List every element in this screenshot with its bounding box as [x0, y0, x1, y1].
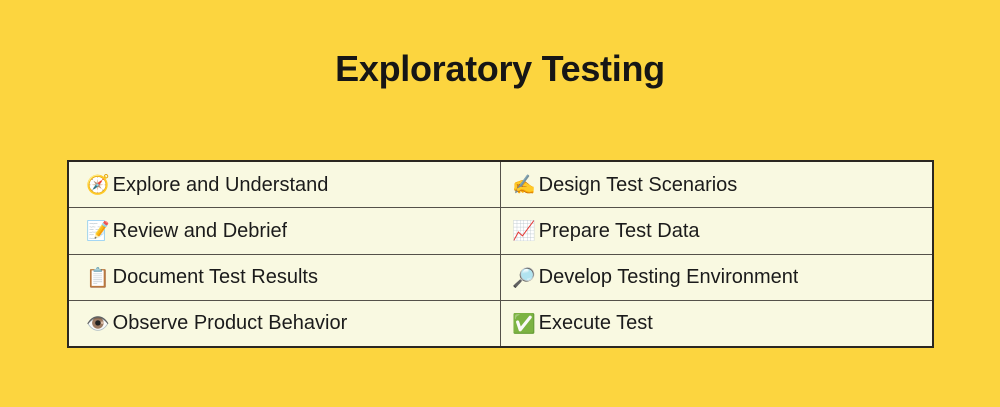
matrix-cell-label: Review and Debrief: [113, 219, 288, 243]
table-row: 📋 Document Test Results 🔎 Develop Testin…: [69, 255, 932, 301]
matrix-cell-label: Prepare Test Data: [539, 219, 700, 243]
matrix-cell-label: Observe Product Behavior: [113, 311, 348, 335]
matrix-cell-label: Develop Testing Environment: [539, 265, 799, 289]
table-row: 🧭 Explore and Understand ✍️ Design Test …: [69, 162, 932, 208]
matrix-cell-label: Document Test Results: [113, 265, 318, 289]
matrix-cell-design-test-scenarios[interactable]: ✍️ Design Test Scenarios: [501, 162, 932, 207]
memo-icon: 📝: [86, 222, 110, 241]
matrix-cell-document-test-results[interactable]: 📋 Document Test Results: [69, 255, 501, 300]
clipboard-icon: 📋: [86, 269, 110, 288]
matrix-cell-label: Execute Test: [539, 311, 653, 335]
matrix-cell-label: Design Test Scenarios: [539, 173, 738, 197]
magnifying-glass-icon: 🔎: [512, 269, 536, 288]
page-title: Exploratory Testing: [0, 46, 1000, 92]
matrix-cell-label: Explore and Understand: [113, 173, 329, 197]
check-mark-button-icon: ✅: [512, 315, 536, 334]
compass-icon: 🧭: [86, 176, 110, 195]
matrix-cell-develop-testing-environment[interactable]: 🔎 Develop Testing Environment: [501, 255, 932, 300]
table-row: 👁️ Observe Product Behavior ✅ Execute Te…: [69, 301, 932, 346]
matrix-cell-explore-and-understand[interactable]: 🧭 Explore and Understand: [69, 162, 501, 207]
exploratory-testing-matrix: 🧭 Explore and Understand ✍️ Design Test …: [67, 160, 934, 348]
writing-hand-icon: ✍️: [512, 176, 536, 195]
table-row: 📝 Review and Debrief 📈 Prepare Test Data: [69, 208, 932, 254]
eye-icon: 👁️: [86, 315, 110, 334]
matrix-cell-execute-test[interactable]: ✅ Execute Test: [501, 301, 932, 346]
matrix-cell-review-and-debrief[interactable]: 📝 Review and Debrief: [69, 208, 501, 253]
matrix-cell-prepare-test-data[interactable]: 📈 Prepare Test Data: [501, 208, 932, 253]
matrix-cell-observe-product-behavior[interactable]: 👁️ Observe Product Behavior: [69, 301, 501, 346]
chart-increasing-icon: 📈: [512, 222, 536, 241]
